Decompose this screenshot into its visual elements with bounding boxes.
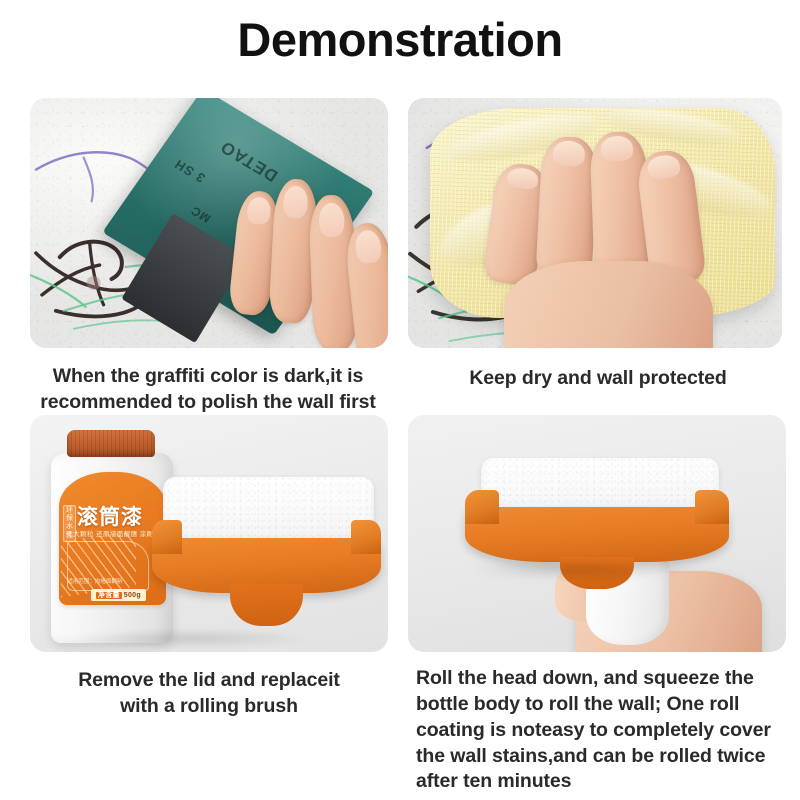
fingernail [246,196,272,226]
caption-replace-lid: Remove the lid and replaceit with a roll… [30,652,388,719]
fingernail [647,153,682,179]
demonstration-infographic: Demonstration [0,0,800,800]
photo-keep-dry [408,98,782,348]
fingernail [354,229,382,264]
photo-replace-lid: 环保 水性 滚筒漆 无大颗粒 还原墙面靓丽 涂刷快捷方便 省事省钱省心 适用范围… [30,415,388,652]
label-weight: 净含量500g [91,589,146,601]
bottle-cap [67,430,155,458]
photo-polish-wall: DETAO 3 SH MC [30,98,388,348]
caption-keep-dry: Keep dry and wall protected [408,348,782,392]
hand [230,163,388,348]
roller-frame [465,507,730,561]
roller-brush-head [152,477,381,614]
page-title: Demonstration [0,0,800,67]
drop-shadow [66,629,317,648]
fingernail [506,166,539,190]
roller-arm-right [695,490,729,524]
hand [490,123,722,348]
palm [504,261,713,348]
label-footer: 适用范围：内墙面翻新 [67,577,122,585]
weight-value: 500g [124,592,141,599]
panel-keep-dry: Keep dry and wall protected [396,98,800,415]
drop-shadow [461,558,695,582]
roller-arm-right [351,520,381,554]
roller-arm-left [152,520,182,554]
fingernail [283,186,309,219]
cap-ridges [67,430,155,458]
panel-replace-lid: 环保 水性 滚筒漆 无大颗粒 还原墙面靓丽 涂刷快捷方便 省事省钱省心 适用范围… [0,415,396,795]
panel-roll-wall: Roll the head down, and squeeze the bott… [396,415,800,795]
fingernail [319,202,345,237]
panel-polish-wall: DETAO 3 SH MC [0,98,396,415]
product-label: 环保 水性 滚筒漆 无大颗粒 还原墙面靓丽 涂刷快捷方便 省事省钱省心 适用范围… [59,472,166,604]
fingernail [552,140,585,166]
caption-roll-wall: Roll the head down, and squeeze the bott… [408,652,786,795]
panel-grid: DETAO 3 SH MC [0,98,800,795]
roller-arm-left [465,490,499,524]
photo-roll-wall [408,415,786,652]
weight-tag: 净含量 [96,592,122,599]
fingernail [601,136,634,162]
finger [535,135,598,280]
caption-polish-wall: When the graffiti color is dark,it is re… [30,348,388,415]
